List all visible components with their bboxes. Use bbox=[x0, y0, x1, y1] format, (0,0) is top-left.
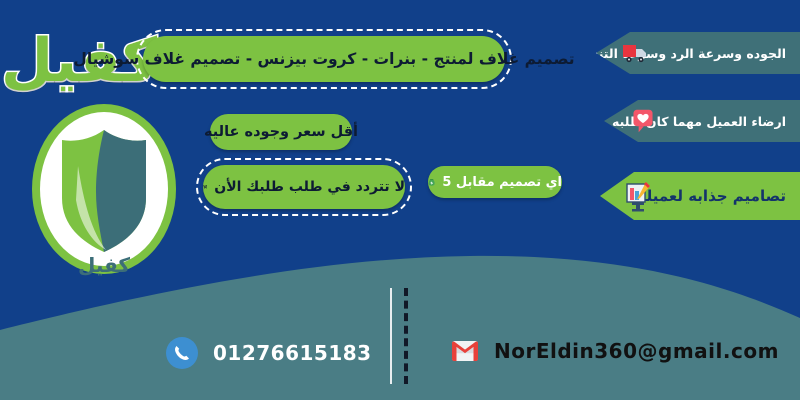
any-design-price-pill[interactable]: اي تصميم مقابل 5 $ bbox=[428, 166, 562, 198]
services-pill[interactable]: تصميم غلاف لمنتج - بنرات - كروت بيزنس - … bbox=[143, 36, 505, 82]
shopping-cart-icon bbox=[203, 176, 207, 198]
services-pill-label: تصميم غلاف لمنتج - بنرات - كروت بيزنس - … bbox=[73, 50, 574, 68]
contact-email[interactable]: NorEldin360@gmail.com bbox=[450, 336, 779, 366]
contact-divider-dashed bbox=[404, 288, 408, 384]
order-now-pill-label: لا تتردد في طلب طلبك الأن bbox=[214, 179, 405, 195]
delivery-truck-icon bbox=[622, 40, 648, 66]
ribbon-quality-label: الجوده وسرعة الرد وسرعة التنفيذ bbox=[577, 46, 786, 61]
price-quality-pill-label: أقل سعر وجوده عاليه bbox=[204, 124, 358, 140]
promo-poster: كفيل كفيل تصميم غلاف لمنتج - بنرات - كرو… bbox=[0, 0, 800, 400]
order-now-pill[interactable]: لا تتردد في طلب طلبك الأن bbox=[203, 165, 405, 209]
any-design-price-label: اي تصميم مقابل 5 bbox=[442, 175, 562, 190]
brand-logo: كفيل bbox=[26, 100, 182, 278]
contact-phone-value: 01276615183 bbox=[213, 341, 372, 365]
contact-phone[interactable]: 01276615183 bbox=[165, 336, 372, 370]
logo-caption: كفيل bbox=[78, 253, 130, 277]
ribbon-satisfaction[interactable]: ارضاء العميل مهما كان طلبه bbox=[604, 100, 800, 142]
price-quality-pill[interactable]: أقل سعر وجوده عاليه bbox=[210, 114, 352, 150]
ribbon-quality[interactable]: الجوده وسرعة الرد وسرعة التنفيذ bbox=[596, 32, 800, 74]
gmail-icon bbox=[450, 336, 480, 366]
ribbon-attractive-designs-label: تصاميم جذابه لعميلك bbox=[633, 187, 786, 205]
design-tools-icon bbox=[624, 180, 654, 212]
contact-divider-solid bbox=[390, 288, 392, 384]
phone-icon bbox=[165, 336, 199, 370]
money-bag-icon: $ bbox=[428, 171, 435, 193]
contact-email-value: NorEldin360@gmail.com bbox=[494, 339, 779, 363]
shield-logo-icon: كفيل bbox=[26, 100, 182, 278]
ribbon-attractive-designs[interactable]: تصاميم جذابه لعميلك bbox=[600, 172, 800, 220]
heart-like-icon bbox=[630, 108, 656, 134]
